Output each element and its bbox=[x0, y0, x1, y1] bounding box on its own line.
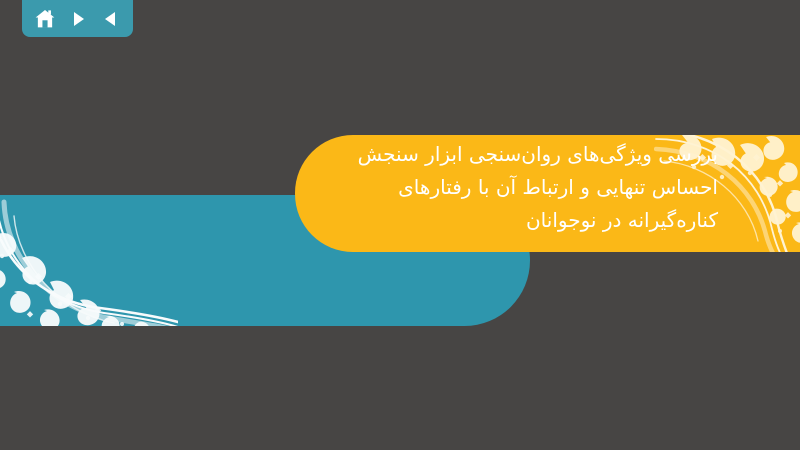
forward-button[interactable] bbox=[65, 6, 91, 32]
arabesque-ornament-orange bbox=[654, 135, 800, 252]
home-button[interactable] bbox=[32, 6, 58, 32]
slide-canvas: بررسی ویژگی‌های روان‌سنجی ابزار سنجش احس… bbox=[0, 0, 800, 450]
forward-icon bbox=[68, 9, 88, 29]
home-icon bbox=[34, 8, 56, 30]
back-icon bbox=[101, 9, 121, 29]
orange-title-panel bbox=[295, 135, 800, 252]
navigation-bar bbox=[22, 0, 133, 37]
arabesque-ornament-teal bbox=[0, 195, 178, 326]
back-button[interactable] bbox=[98, 6, 124, 32]
